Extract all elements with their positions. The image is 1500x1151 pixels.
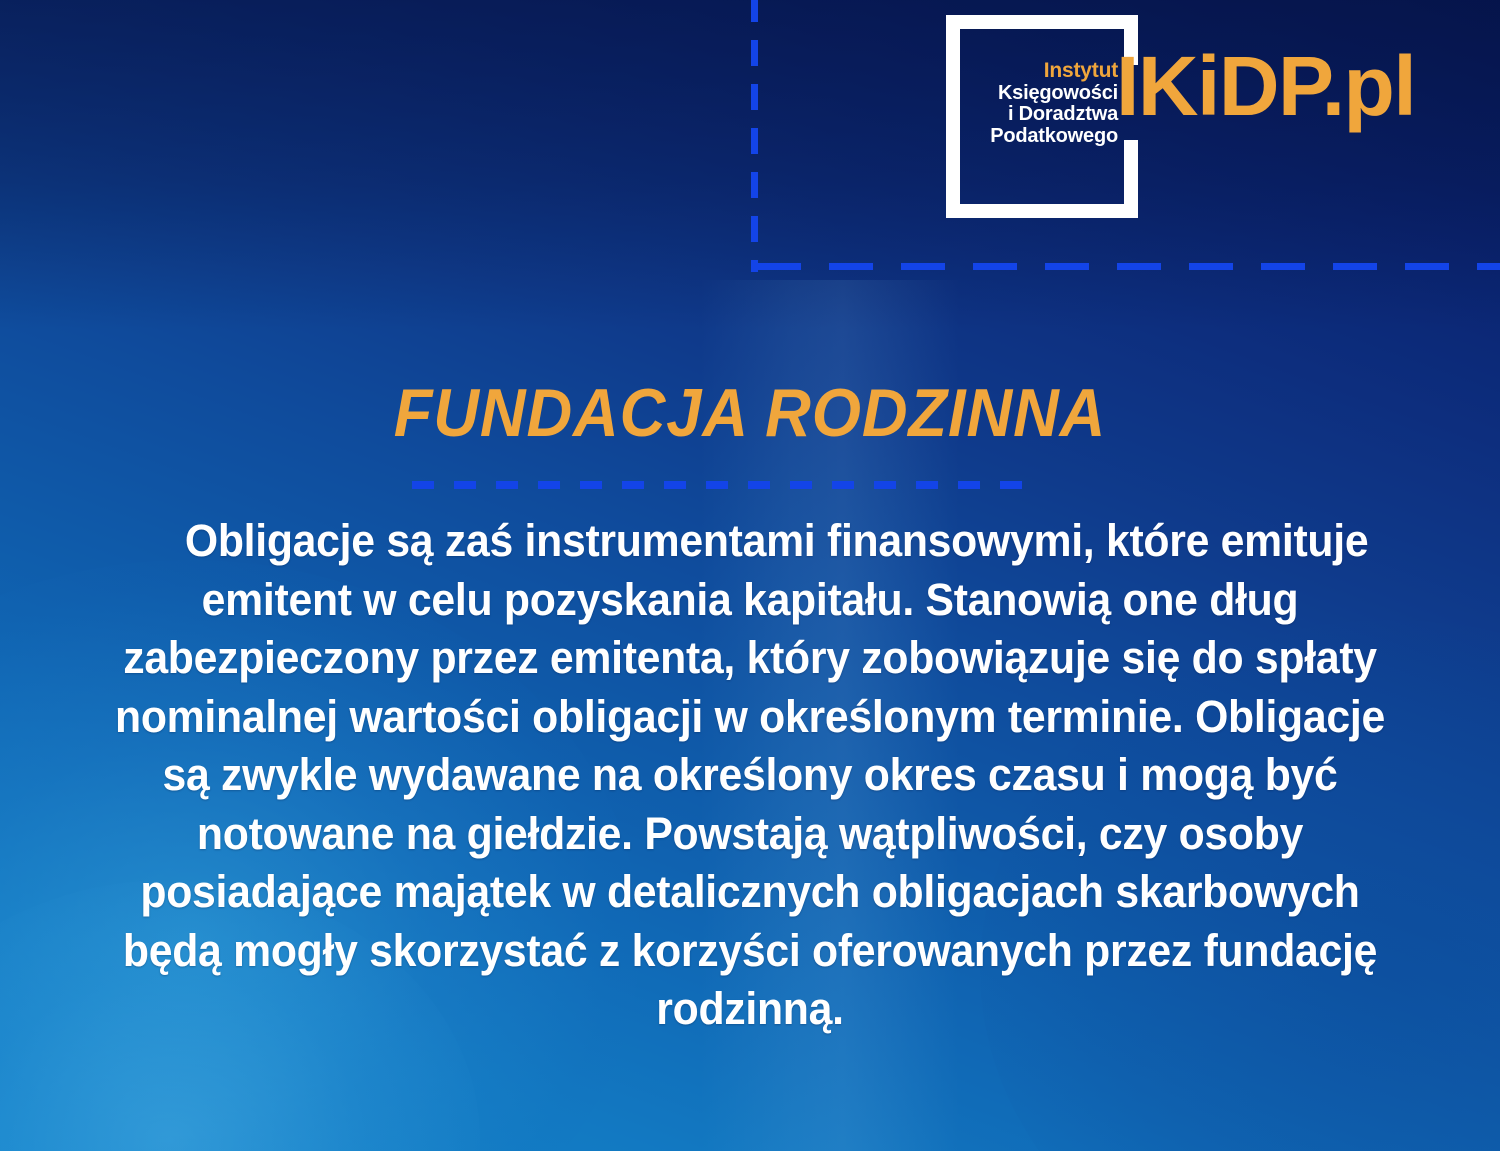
- bracket-bottom-bar: [946, 204, 1138, 218]
- brand-logo[interactable]: Instytut Księgowości i Doradztwa Podatko…: [940, 8, 1440, 218]
- page-title: FUNDACJA RODZINNA: [53, 374, 1448, 452]
- logo-line-doradztwa: i Doradztwa: [950, 104, 1118, 126]
- title-divider: [412, 481, 1029, 489]
- bracket-top-bar: [946, 15, 1138, 29]
- bracket-right-bottom-bar: [1124, 140, 1138, 218]
- logo-line-ksiegowosci: Księgowości: [950, 83, 1118, 105]
- body-paragraph: Obligacje są zaś instrumentami finansowy…: [106, 512, 1394, 1039]
- logo-text-block: Instytut Księgowości i Doradztwa Podatko…: [950, 60, 1118, 147]
- dashed-line-horizontal: [757, 263, 1500, 270]
- poster-canvas: Instytut Księgowości i Doradztwa Podatko…: [0, 0, 1500, 1151]
- logo-wordmark[interactable]: IKiDP.pl: [1116, 44, 1415, 128]
- dashed-line-vertical: [751, 0, 758, 272]
- logo-line-instytut: Instytut: [950, 60, 1118, 83]
- logo-line-podatkowego: Podatkowego: [950, 126, 1118, 148]
